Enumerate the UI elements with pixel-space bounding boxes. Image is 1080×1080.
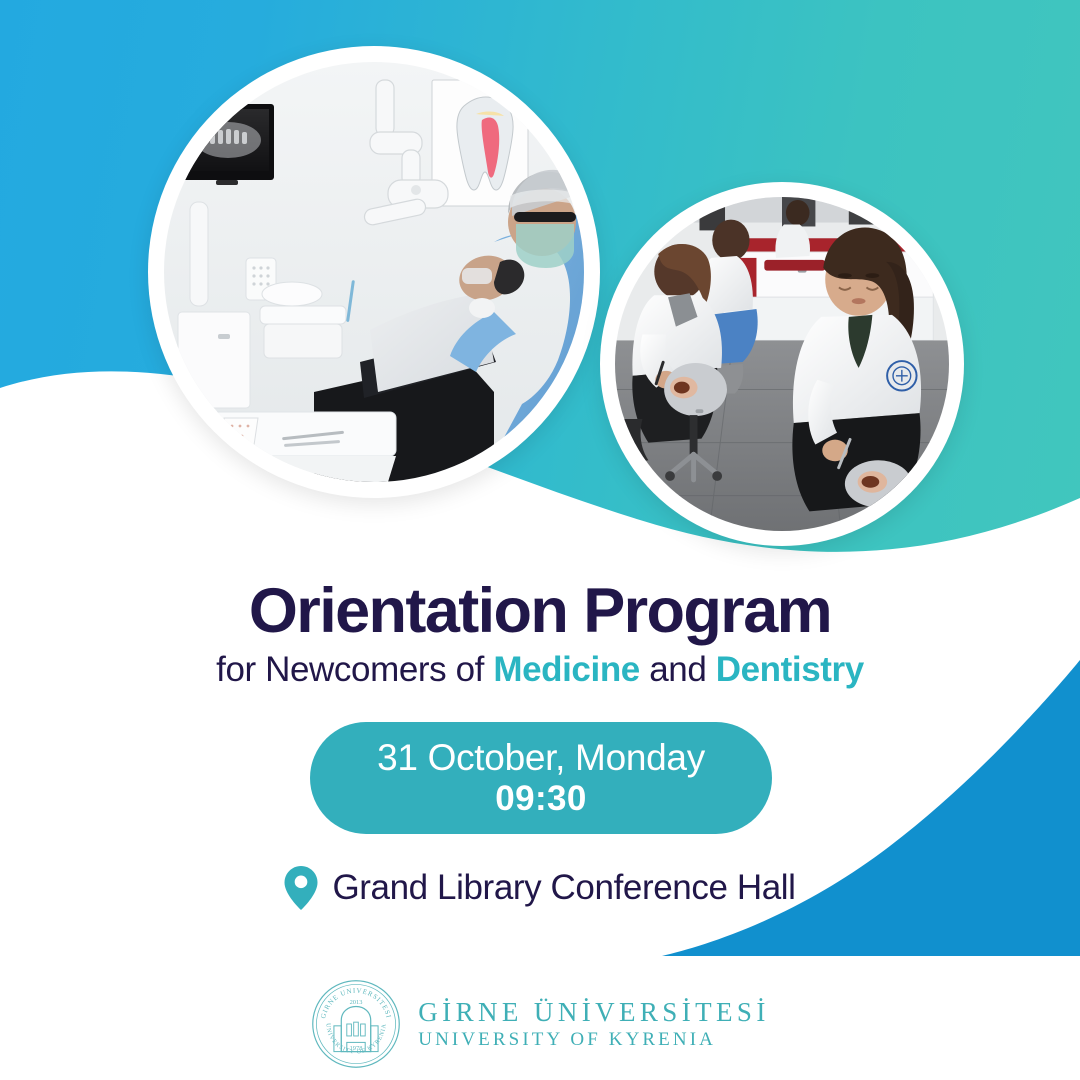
page-subtitle: for Newcomers of Medicine and Dentistry xyxy=(0,650,1080,690)
university-name-en: UNIVERSITY OF KYRENIA xyxy=(418,1029,769,1051)
subtitle-joiner: and xyxy=(640,650,716,689)
university-seal-icon: 1978 2013 GIRNE UNIVERSITESI UNIVERSITY … xyxy=(310,978,402,1070)
map-pin-icon xyxy=(284,866,318,910)
page-title: Orientation Program xyxy=(0,578,1080,644)
university-name-tr: GİRNE ÜNİVERSİTESİ xyxy=(418,997,769,1029)
dental-clinic-photo-image xyxy=(164,62,584,482)
event-location: Grand Library Conference Hall xyxy=(0,866,1080,910)
dental-students-photo-image xyxy=(615,197,949,531)
poster-canvas: Orientation Program for Newcomers of Med… xyxy=(0,0,1080,1080)
dental-clinic-photo xyxy=(148,46,600,498)
event-date: 31 October, Monday xyxy=(377,737,705,780)
date-time-badge: 31 October, Monday 09:30 xyxy=(310,722,772,834)
university-logo-text: GİRNE ÜNİVERSİTESİ UNIVERSITY OF KYRENIA xyxy=(418,997,769,1051)
location-text: Grand Library Conference Hall xyxy=(332,868,795,908)
event-time: 09:30 xyxy=(495,779,587,819)
dental-students-photo xyxy=(600,182,964,546)
svg-text:2013: 2013 xyxy=(350,999,363,1006)
subtitle-accent-medicine: Medicine xyxy=(493,650,640,689)
subtitle-lead: for Newcomers of xyxy=(216,650,493,689)
subtitle-accent-dentistry: Dentistry xyxy=(716,650,864,689)
university-logo: 1978 2013 GIRNE UNIVERSITESI UNIVERSITY … xyxy=(0,978,1080,1070)
